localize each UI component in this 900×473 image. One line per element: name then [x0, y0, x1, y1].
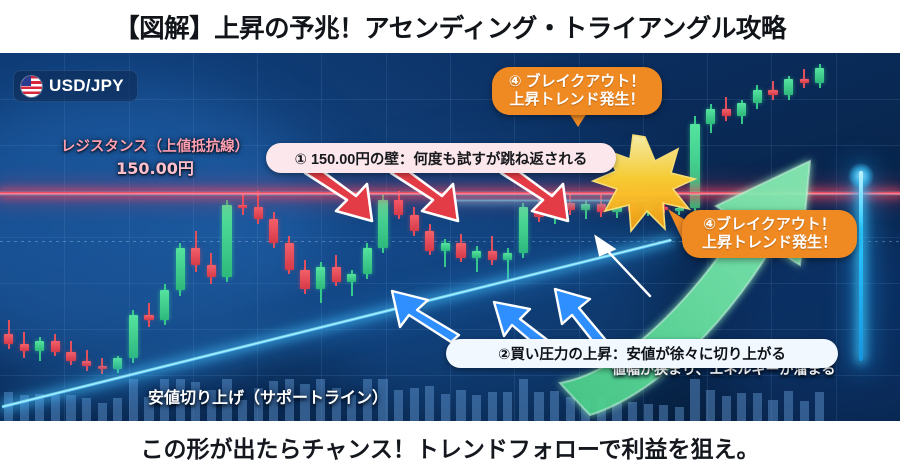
candle-body: [566, 203, 575, 210]
candle-body: [472, 251, 481, 258]
candle-body: [597, 204, 606, 213]
candle-body: [51, 341, 60, 352]
callout-note-4-right: ④ブレイクアウト！ 上昇トレンド発生！: [682, 210, 857, 258]
candle-body: [394, 200, 403, 214]
candle-body: [488, 251, 497, 261]
candlestick: [238, 53, 247, 421]
candle-body: [768, 90, 777, 95]
candle-body: [4, 334, 13, 344]
candlestick: [441, 53, 450, 421]
caption-bar: この形が出たらチャンス！トレンドフォローで利益を狙え。: [0, 421, 900, 473]
candle-body: [628, 206, 637, 211]
candlestick: [98, 53, 107, 421]
candlestick: [191, 53, 200, 421]
callout-note-4-top-line2: 上昇トレンド発生！: [509, 91, 644, 109]
candle-body: [285, 243, 294, 269]
candle-body: [316, 267, 325, 289]
candlestick: [222, 53, 231, 421]
candle-body: [332, 267, 341, 281]
candle-body: [207, 265, 216, 277]
candle-body: [737, 103, 746, 116]
candle-body: [644, 207, 653, 211]
candle-body: [222, 205, 231, 277]
candle-body: [347, 274, 356, 281]
candle-body: [35, 341, 44, 352]
callout-note-1: ① 150.00円の壁：何度も試すが跳ね返される: [266, 143, 616, 173]
candlestick: [4, 53, 13, 421]
candle-body: [254, 207, 263, 219]
candle-body: [425, 231, 434, 250]
candle-body: [191, 248, 200, 265]
candle-body: [363, 248, 372, 274]
caption-text: この形が出たらチャンス！トレンドフォローで利益を狙え。: [141, 430, 760, 464]
candle-body: [238, 205, 247, 208]
candle-body: [503, 253, 512, 260]
candle-body: [534, 207, 543, 217]
candlestick: [254, 53, 263, 421]
candlestick: [425, 53, 434, 421]
support-label: 安値切り上げ（サポートライン）: [148, 384, 388, 408]
callout-note-2: ②買い圧力の上昇：安値が徐々に切り上がる: [446, 339, 838, 368]
candle-wick: [242, 193, 244, 215]
candlestick: [82, 53, 91, 421]
candle-body: [441, 243, 450, 250]
candle-body: [519, 207, 528, 252]
candlestick: [285, 53, 294, 421]
candle-body: [706, 109, 715, 123]
callout-note-1-text: ① 150.00円の壁：何度も試すが跳ね返される: [295, 148, 588, 169]
currency-pair-badge[interactable]: USD/JPY: [13, 70, 138, 102]
candle-wick: [476, 246, 478, 272]
candle-body: [612, 206, 621, 212]
candle-body: [800, 79, 809, 83]
candle-body: [82, 361, 91, 367]
candlestick-chart: USD/JPY レジスタンス（上値抵抗線） 150.00円 安値切り上げ（サポー…: [0, 53, 900, 421]
callout-note-4-right-line2: 上昇トレンド発生！: [702, 234, 837, 252]
candlestick: [207, 53, 216, 421]
resistance-label-text: レジスタンス（上値抵抗線）: [25, 138, 285, 158]
candlestick: [144, 53, 153, 421]
candlestick: [35, 53, 44, 421]
callout-note-4-right-line1: ④ブレイクアウト！: [703, 216, 835, 234]
candle-body: [550, 203, 559, 217]
breakout-level-line: [455, 199, 650, 202]
callout-note-4-top-line1: ④ ブレイクアウト！: [509, 73, 646, 91]
currency-pair-label: USD/JPY: [49, 76, 124, 96]
candlestick: [129, 53, 138, 421]
candle-body: [659, 207, 668, 210]
candle-body: [815, 68, 824, 83]
latest-price-spike: [859, 171, 863, 361]
candle-body: [20, 344, 29, 351]
candle-body: [456, 243, 465, 257]
candle-body: [581, 204, 590, 210]
candle-body: [66, 352, 75, 361]
candle-body: [675, 208, 684, 211]
candle-body: [300, 270, 309, 289]
candle-body: [98, 366, 107, 369]
candle-body: [176, 248, 185, 290]
candle-body: [144, 315, 153, 320]
candle-body: [410, 215, 419, 232]
candlestick: [347, 53, 356, 421]
candlestick: [176, 53, 185, 421]
candle-body: [378, 200, 387, 248]
resistance-line: [0, 191, 900, 196]
candlestick: [269, 53, 278, 421]
resistance-price: 150.00円: [25, 158, 285, 180]
candle-body: [269, 219, 278, 243]
candle-body: [784, 79, 793, 95]
page-title: 【図解】上昇の予兆！アセンディング・トライアングル攻略: [114, 8, 786, 45]
us-flag-icon: [21, 76, 42, 97]
candlestick: [394, 53, 403, 421]
candlestick: [113, 53, 122, 421]
candle-body: [129, 315, 138, 358]
candlestick: [410, 53, 419, 421]
candle-body: [722, 109, 731, 116]
candlestick: [51, 53, 60, 421]
infographic-root: 【図解】上昇の予兆！アセンディング・トライアングル攻略: [0, 0, 900, 473]
title-bar: 【図解】上昇の予兆！アセンディング・トライアングル攻略: [0, 0, 900, 53]
candle-body: [113, 358, 122, 369]
candlestick: [363, 53, 372, 421]
candlestick: [316, 53, 325, 421]
candlestick: [300, 53, 309, 421]
callout-note-2-text: ②買い圧力の上昇：安値が徐々に切り上がる: [498, 343, 786, 364]
candlestick: [66, 53, 75, 421]
candle-body: [753, 90, 762, 103]
candle-body: [160, 290, 169, 320]
candlestick: [20, 53, 29, 421]
callout-note-4-top: ④ ブレイクアウト！ 上昇トレンド発生！: [492, 67, 662, 115]
candlestick: [378, 53, 387, 421]
candlestick: [332, 53, 341, 421]
resistance-label: レジスタンス（上値抵抗線） 150.00円: [25, 138, 285, 179]
